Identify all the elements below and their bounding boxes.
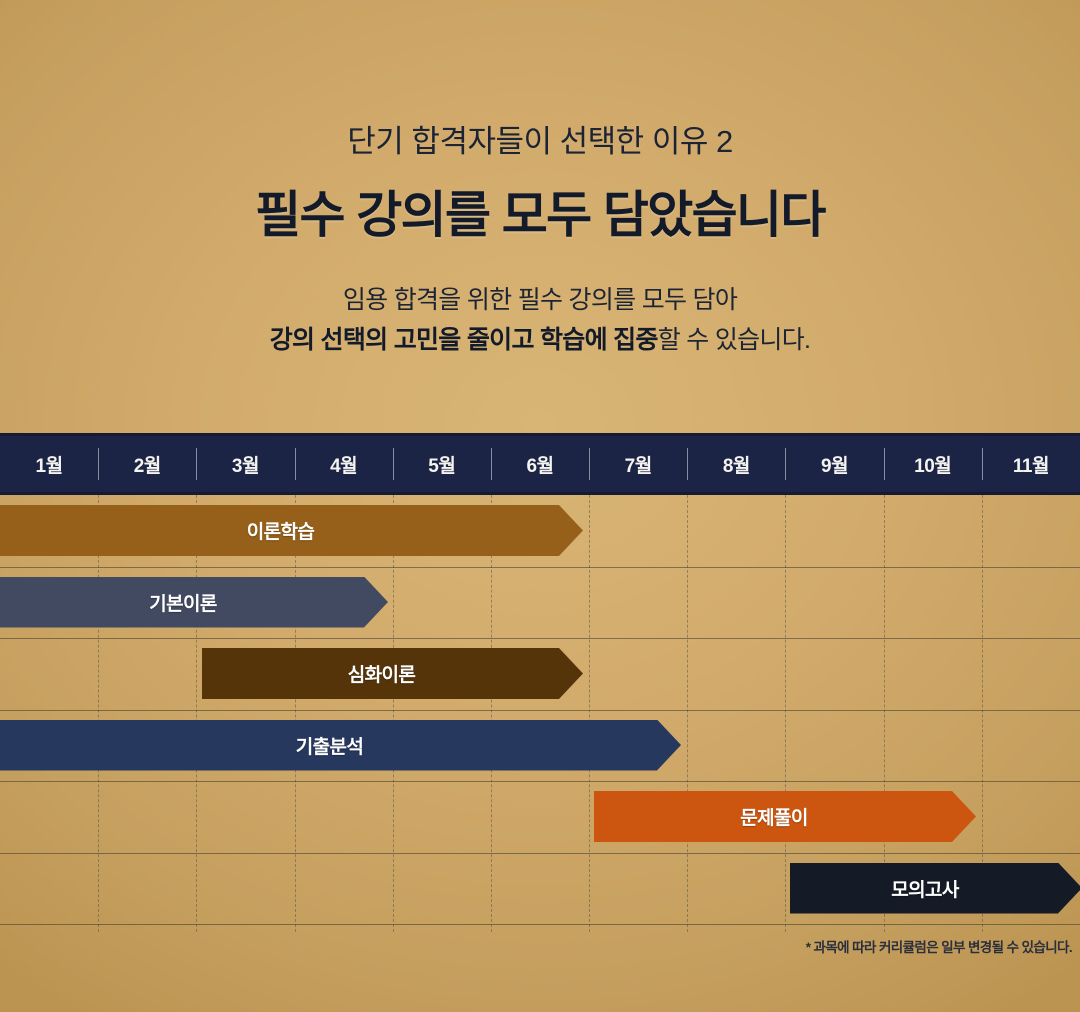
gantt-bar-6[interactable]: 모의고사	[790, 863, 1080, 914]
month-divider	[589, 448, 590, 480]
promo-page: 단기 합격자들이 선택한 이유 2 필수 강의를 모두 담았습니다 임용 합격을…	[0, 0, 1080, 1012]
gantt-bar-label: 모의고사	[891, 875, 959, 902]
month-label-4: 4월	[295, 436, 393, 492]
hero-subtitle-line1: 임용 합격을 위한 필수 강의를 모두 담아	[0, 281, 1080, 321]
hero-subtitle-emphasis: 강의 선택의 고민을 줄이고 학습에 집중	[270, 326, 658, 354]
gantt-bar-label: 기본이론	[149, 589, 217, 616]
month-label-7: 7월	[589, 436, 687, 492]
curriculum-gantt-chart: 1월2월3월4월5월6월7월8월9월10월11월 이론학습기본이론심화이론기출분…	[0, 433, 1080, 929]
month-label-9: 9월	[785, 436, 883, 492]
grid-row-line	[0, 710, 1080, 711]
month-label-11: 11월	[982, 436, 1080, 492]
grid-column-line	[491, 495, 492, 932]
gantt-bar-3[interactable]: 심화이론	[202, 648, 583, 699]
month-label-6: 6월	[491, 436, 589, 492]
gantt-bar-label: 이론학습	[247, 517, 315, 544]
month-divider	[982, 448, 983, 480]
chart-grid-area: 이론학습기본이론심화이론기출분석문제풀이모의고사	[0, 495, 1080, 932]
grid-column-line	[785, 495, 786, 932]
month-divider	[196, 448, 197, 480]
month-label-5: 5월	[393, 436, 491, 492]
month-label-1: 1월	[0, 436, 98, 492]
hero-subtitle: 임용 합격을 위한 필수 강의를 모두 담아 강의 선택의 고민을 줄이고 학습…	[0, 281, 1080, 360]
month-label-8: 8월	[687, 436, 785, 492]
month-divider	[884, 448, 885, 480]
grid-row-line	[0, 567, 1080, 568]
month-divider	[295, 448, 296, 480]
grid-column-line	[393, 495, 394, 932]
month-label-10: 10월	[884, 436, 982, 492]
chart-footnote: * 과목에 따라 커리큘럼은 일부 변경될 수 있습니다.	[806, 936, 1072, 956]
month-label-2: 2월	[98, 436, 196, 492]
grid-row-line	[0, 924, 1080, 925]
page-title: 필수 강의를 모두 담았습니다	[0, 188, 1080, 243]
month-divider	[491, 448, 492, 480]
grid-row-line	[0, 781, 1080, 782]
gantt-bar-label: 기출분석	[296, 732, 364, 759]
hero-section: 단기 합격자들이 선택한 이유 2 필수 강의를 모두 담았습니다 임용 합격을…	[0, 0, 1080, 360]
month-divider	[687, 448, 688, 480]
month-divider	[785, 448, 786, 480]
gantt-bar-2[interactable]: 기본이론	[0, 577, 388, 628]
gantt-bar-label: 문제풀이	[740, 803, 808, 830]
hero-subtitle-tail: 할 수 있습니다.	[658, 326, 811, 354]
month-divider	[98, 448, 99, 480]
hero-subtitle-line2: 강의 선택의 고민을 줄이고 학습에 집중할 수 있습니다.	[0, 321, 1080, 361]
grid-column-line	[196, 495, 197, 932]
month-divider	[393, 448, 394, 480]
grid-column-line	[687, 495, 688, 932]
gantt-bar-4[interactable]: 기출분석	[0, 720, 681, 771]
grid-column-line	[295, 495, 296, 932]
grid-column-line	[589, 495, 590, 932]
grid-row-line	[0, 638, 1080, 639]
gantt-bar-1[interactable]: 이론학습	[0, 505, 583, 556]
grid-column-line	[98, 495, 99, 932]
month-header-row: 1월2월3월4월5월6월7월8월9월10월11월	[0, 433, 1080, 495]
gantt-bar-5[interactable]: 문제풀이	[594, 791, 976, 842]
grid-row-line	[0, 853, 1080, 854]
hero-eyebrow: 단기 합격자들이 선택한 이유 2	[0, 123, 1080, 160]
gantt-bar-label: 심화이론	[348, 660, 416, 687]
month-label-3: 3월	[196, 436, 294, 492]
